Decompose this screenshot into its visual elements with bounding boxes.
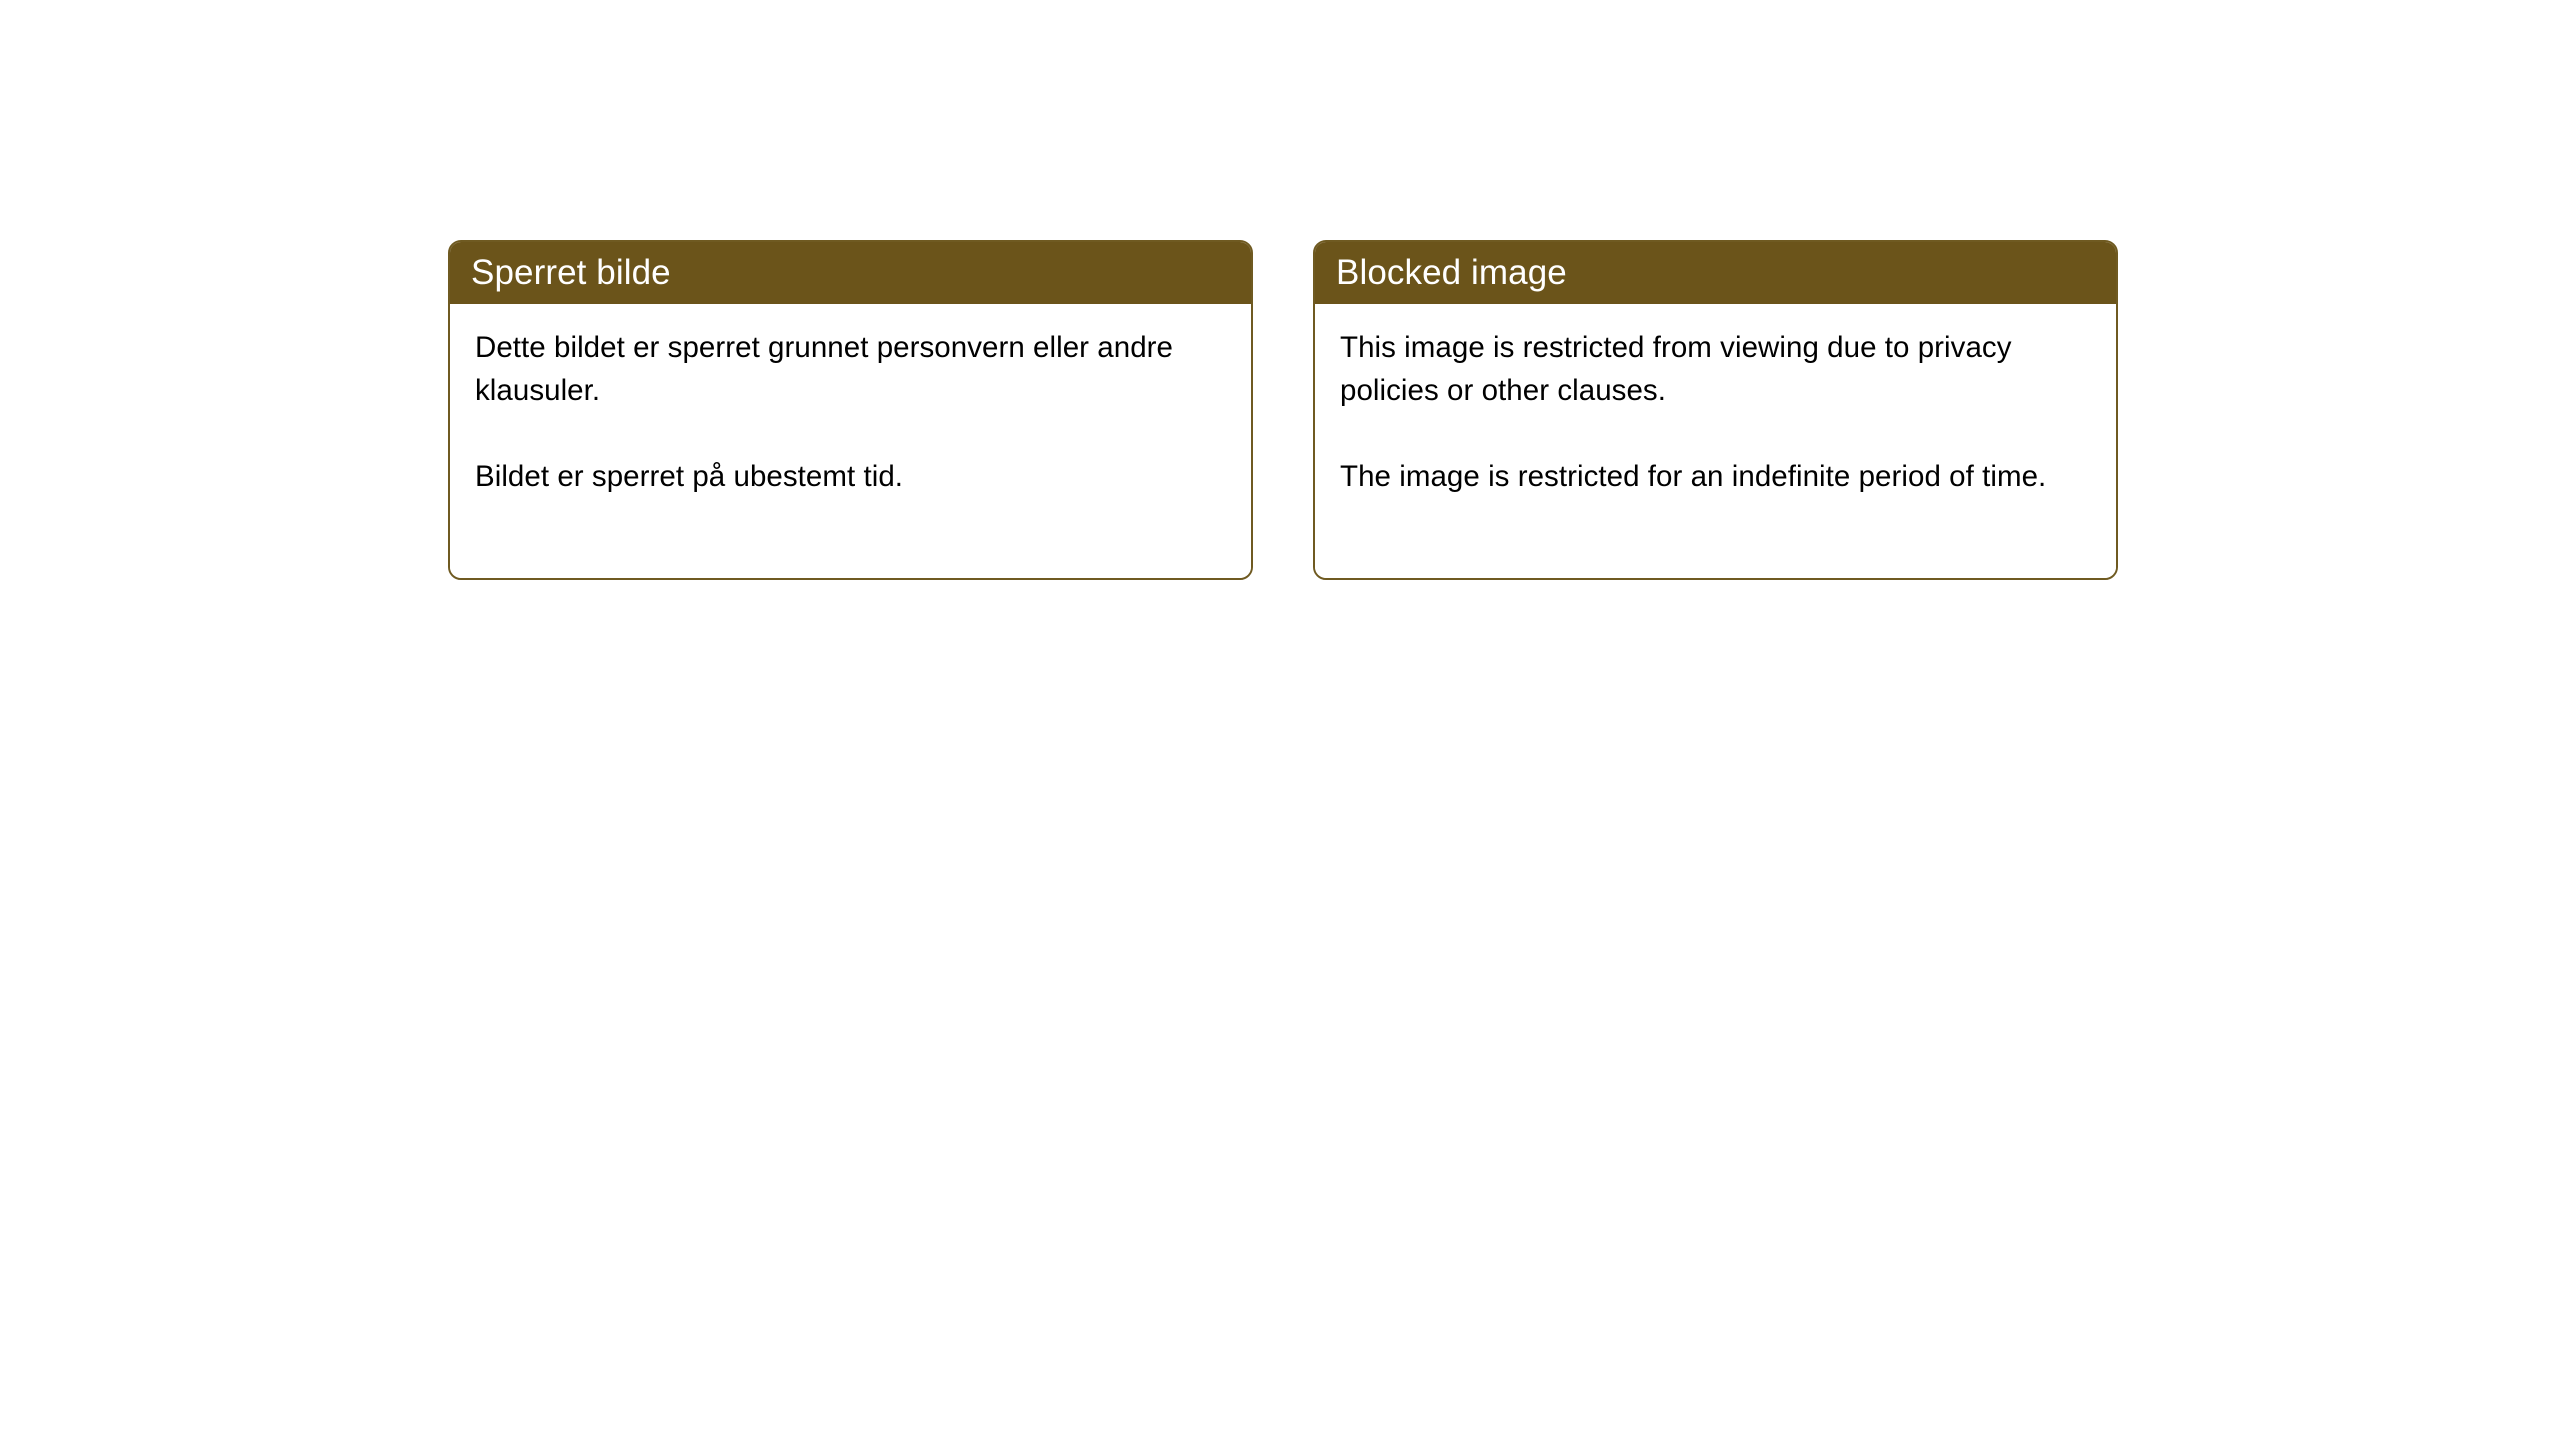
notice-header-english: Blocked image xyxy=(1313,240,2118,304)
notice-body-norwegian: Dette bildet er sperret grunnet personve… xyxy=(450,304,1251,578)
blocked-image-notice-english: Blocked image This image is restricted f… xyxy=(1313,240,2118,580)
notice-paragraph-duration-norwegian: Bildet er sperret på ubestemt tid. xyxy=(475,455,1227,498)
notice-title-norwegian: Sperret bilde xyxy=(448,255,671,290)
notice-paragraph-reason-english: This image is restricted from viewing du… xyxy=(1340,326,2092,412)
notice-body-english: This image is restricted from viewing du… xyxy=(1315,304,2116,578)
notice-paragraph-duration-english: The image is restricted for an indefinit… xyxy=(1340,455,2092,498)
blocked-image-notice-norwegian: Sperret bilde Dette bildet er sperret gr… xyxy=(448,240,1253,580)
page-canvas: Sperret bilde Dette bildet er sperret gr… xyxy=(0,0,2560,1440)
notice-header-norwegian: Sperret bilde xyxy=(448,240,1253,304)
notice-paragraph-reason-norwegian: Dette bildet er sperret grunnet personve… xyxy=(475,326,1227,412)
notice-title-english: Blocked image xyxy=(1313,255,1567,290)
